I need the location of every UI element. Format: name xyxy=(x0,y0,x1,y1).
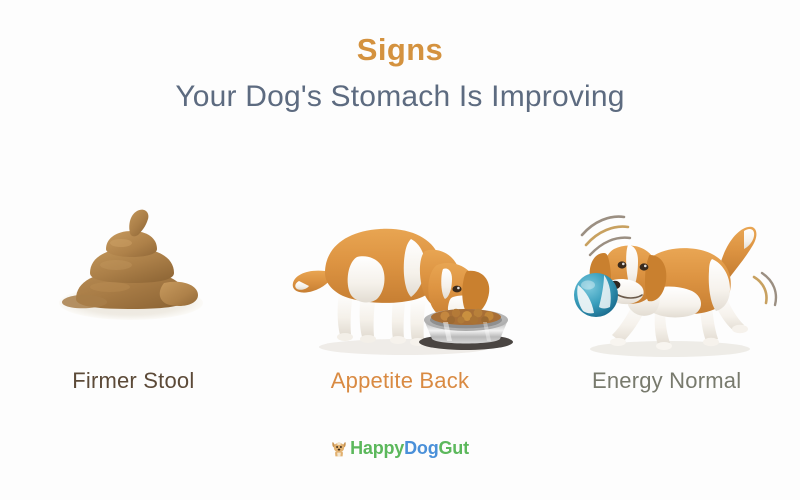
dog-front-leg-near xyxy=(410,297,426,341)
motion-lines-tail xyxy=(754,273,776,305)
poop-swirl-tip xyxy=(130,210,149,237)
logo-text-gut: Gut xyxy=(439,438,469,458)
dog-playing-with-ball-illustration xyxy=(552,199,782,361)
brand-logo: HappyDogGut xyxy=(0,438,800,458)
poop-side-lump xyxy=(160,282,198,306)
signs-row: Firmer Stool xyxy=(0,175,800,395)
dog-mascot-icon xyxy=(331,439,347,457)
sign-item-firmer-stool: Firmer Stool xyxy=(9,180,257,395)
sign-item-appetite-back: Appetite Back xyxy=(276,180,524,395)
page-subtitle: Your Dog's Stomach Is Improving xyxy=(0,76,800,118)
dog-eye-left xyxy=(617,261,626,268)
sign-caption-firmer-stool: Firmer Stool xyxy=(72,367,194,395)
sign-item-energy-normal: Energy Normal xyxy=(543,180,791,395)
logo-text-dog: Dog xyxy=(404,438,438,458)
page-title: Signs xyxy=(0,30,800,70)
sign-caption-appetite-back: Appetite Back xyxy=(331,367,469,395)
dog-ear xyxy=(462,271,489,316)
dog-eating-from-bowl-illustration xyxy=(285,199,515,361)
logo-text-happy: Happy xyxy=(350,438,404,458)
header: Signs Your Dog's Stomach Is Improving xyxy=(0,30,800,118)
dog-chest-white xyxy=(348,256,385,302)
infographic-poster: Signs Your Dog's Stomach Is Improving xyxy=(0,0,800,500)
sign-caption-energy-normal: Energy Normal xyxy=(592,367,741,395)
logo-wordmark: HappyDogGut xyxy=(350,438,469,458)
dog-eye xyxy=(452,286,461,293)
dog-eye-right xyxy=(639,263,648,270)
poop-illustration xyxy=(18,199,248,361)
